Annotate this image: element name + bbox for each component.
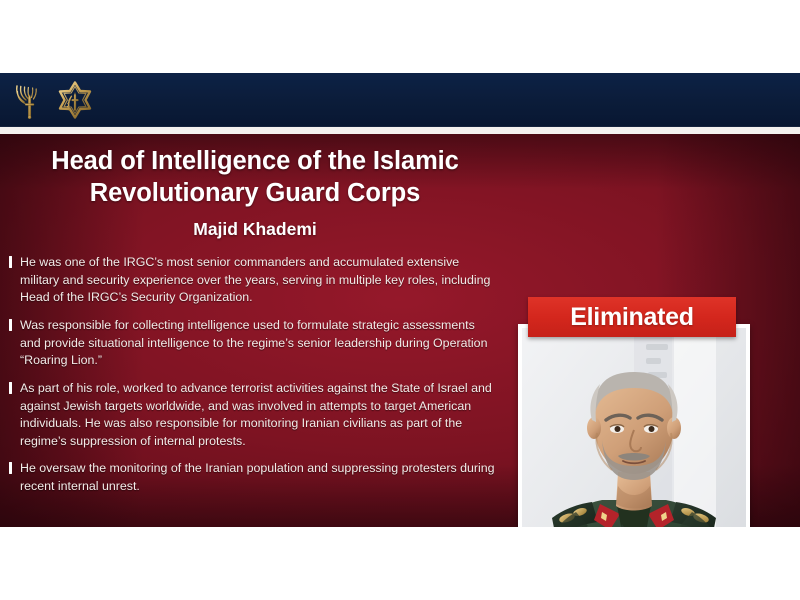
top-white-band	[0, 0, 800, 73]
poster-root: Head of Intelligence of the Islamic Revo…	[0, 0, 800, 600]
text-column: Head of Intelligence of the Islamic Revo…	[0, 134, 510, 527]
list-item: He was one of the IRGC’s most senior com…	[6, 254, 496, 307]
status-badge: Eliminated	[528, 297, 736, 337]
page-title: Head of Intelligence of the Islamic Revo…	[0, 134, 510, 209]
emblem-group	[12, 77, 95, 123]
subject-name: Majid Khademi	[0, 209, 510, 240]
bullet-marker-icon	[9, 462, 12, 474]
bullet-text: He was one of the IRGC’s most senior com…	[20, 254, 496, 307]
header-bar	[0, 73, 800, 127]
bullet-marker-icon	[9, 382, 12, 394]
bullet-marker-icon	[9, 256, 12, 268]
main-panel: Head of Intelligence of the Islamic Revo…	[0, 134, 800, 527]
bullet-text: Was responsible for collecting intellige…	[20, 317, 496, 370]
status-badge-label: Eliminated	[570, 305, 693, 330]
bottom-white-band	[0, 527, 800, 600]
list-item: He oversaw the monitoring of the Iranian…	[6, 460, 496, 495]
list-item: Was responsible for collecting intellige…	[6, 317, 496, 370]
bullet-list: He was one of the IRGC’s most senior com…	[0, 240, 510, 495]
bullet-text: As part of his role, worked to advance t…	[20, 380, 496, 450]
list-item: As part of his role, worked to advance t…	[6, 380, 496, 450]
portrait-frame	[518, 324, 750, 527]
header-separator	[0, 127, 800, 134]
bullet-marker-icon	[9, 319, 12, 331]
idf-emblem	[55, 80, 95, 120]
bullet-text: He oversaw the monitoring of the Iranian…	[20, 460, 496, 495]
subject-portrait	[522, 328, 746, 527]
idf-military-intelligence-emblem	[12, 80, 46, 120]
